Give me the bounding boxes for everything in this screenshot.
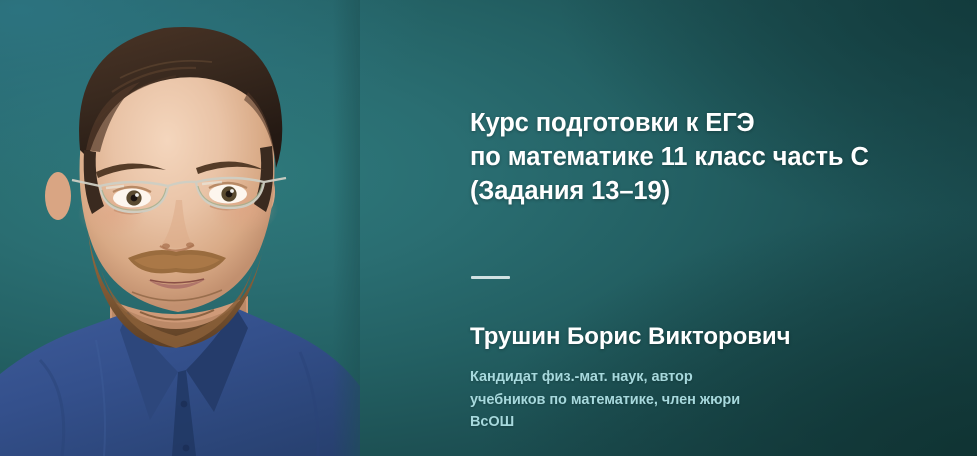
portrait-photo — [0, 0, 360, 456]
divider-rule — [471, 276, 510, 279]
course-promo-banner: Курс подготовки к ЕГЭ по математике 11 к… — [0, 0, 977, 456]
instructor-description: Кандидат физ.-мат. наук, автор учебников… — [470, 366, 830, 434]
text-content: Курс подготовки к ЕГЭ по математике 11 к… — [470, 0, 940, 456]
description-line-3: ВсОШ — [470, 411, 830, 434]
portrait-illustration — [0, 0, 360, 456]
description-line-1: Кандидат физ.-мат. наук, автор — [470, 366, 830, 389]
instructor-name: Трушин Борис Викторович — [470, 322, 940, 352]
page-title: Курс подготовки к ЕГЭ по математике 11 к… — [470, 106, 940, 208]
title-line-2: по математике 11 класс часть C — [470, 140, 940, 174]
title-line-1: Курс подготовки к ЕГЭ — [470, 106, 940, 140]
title-line-3: (Задания 13–19) — [470, 174, 940, 208]
description-line-2: учебников по математике, член жюри — [470, 389, 830, 412]
